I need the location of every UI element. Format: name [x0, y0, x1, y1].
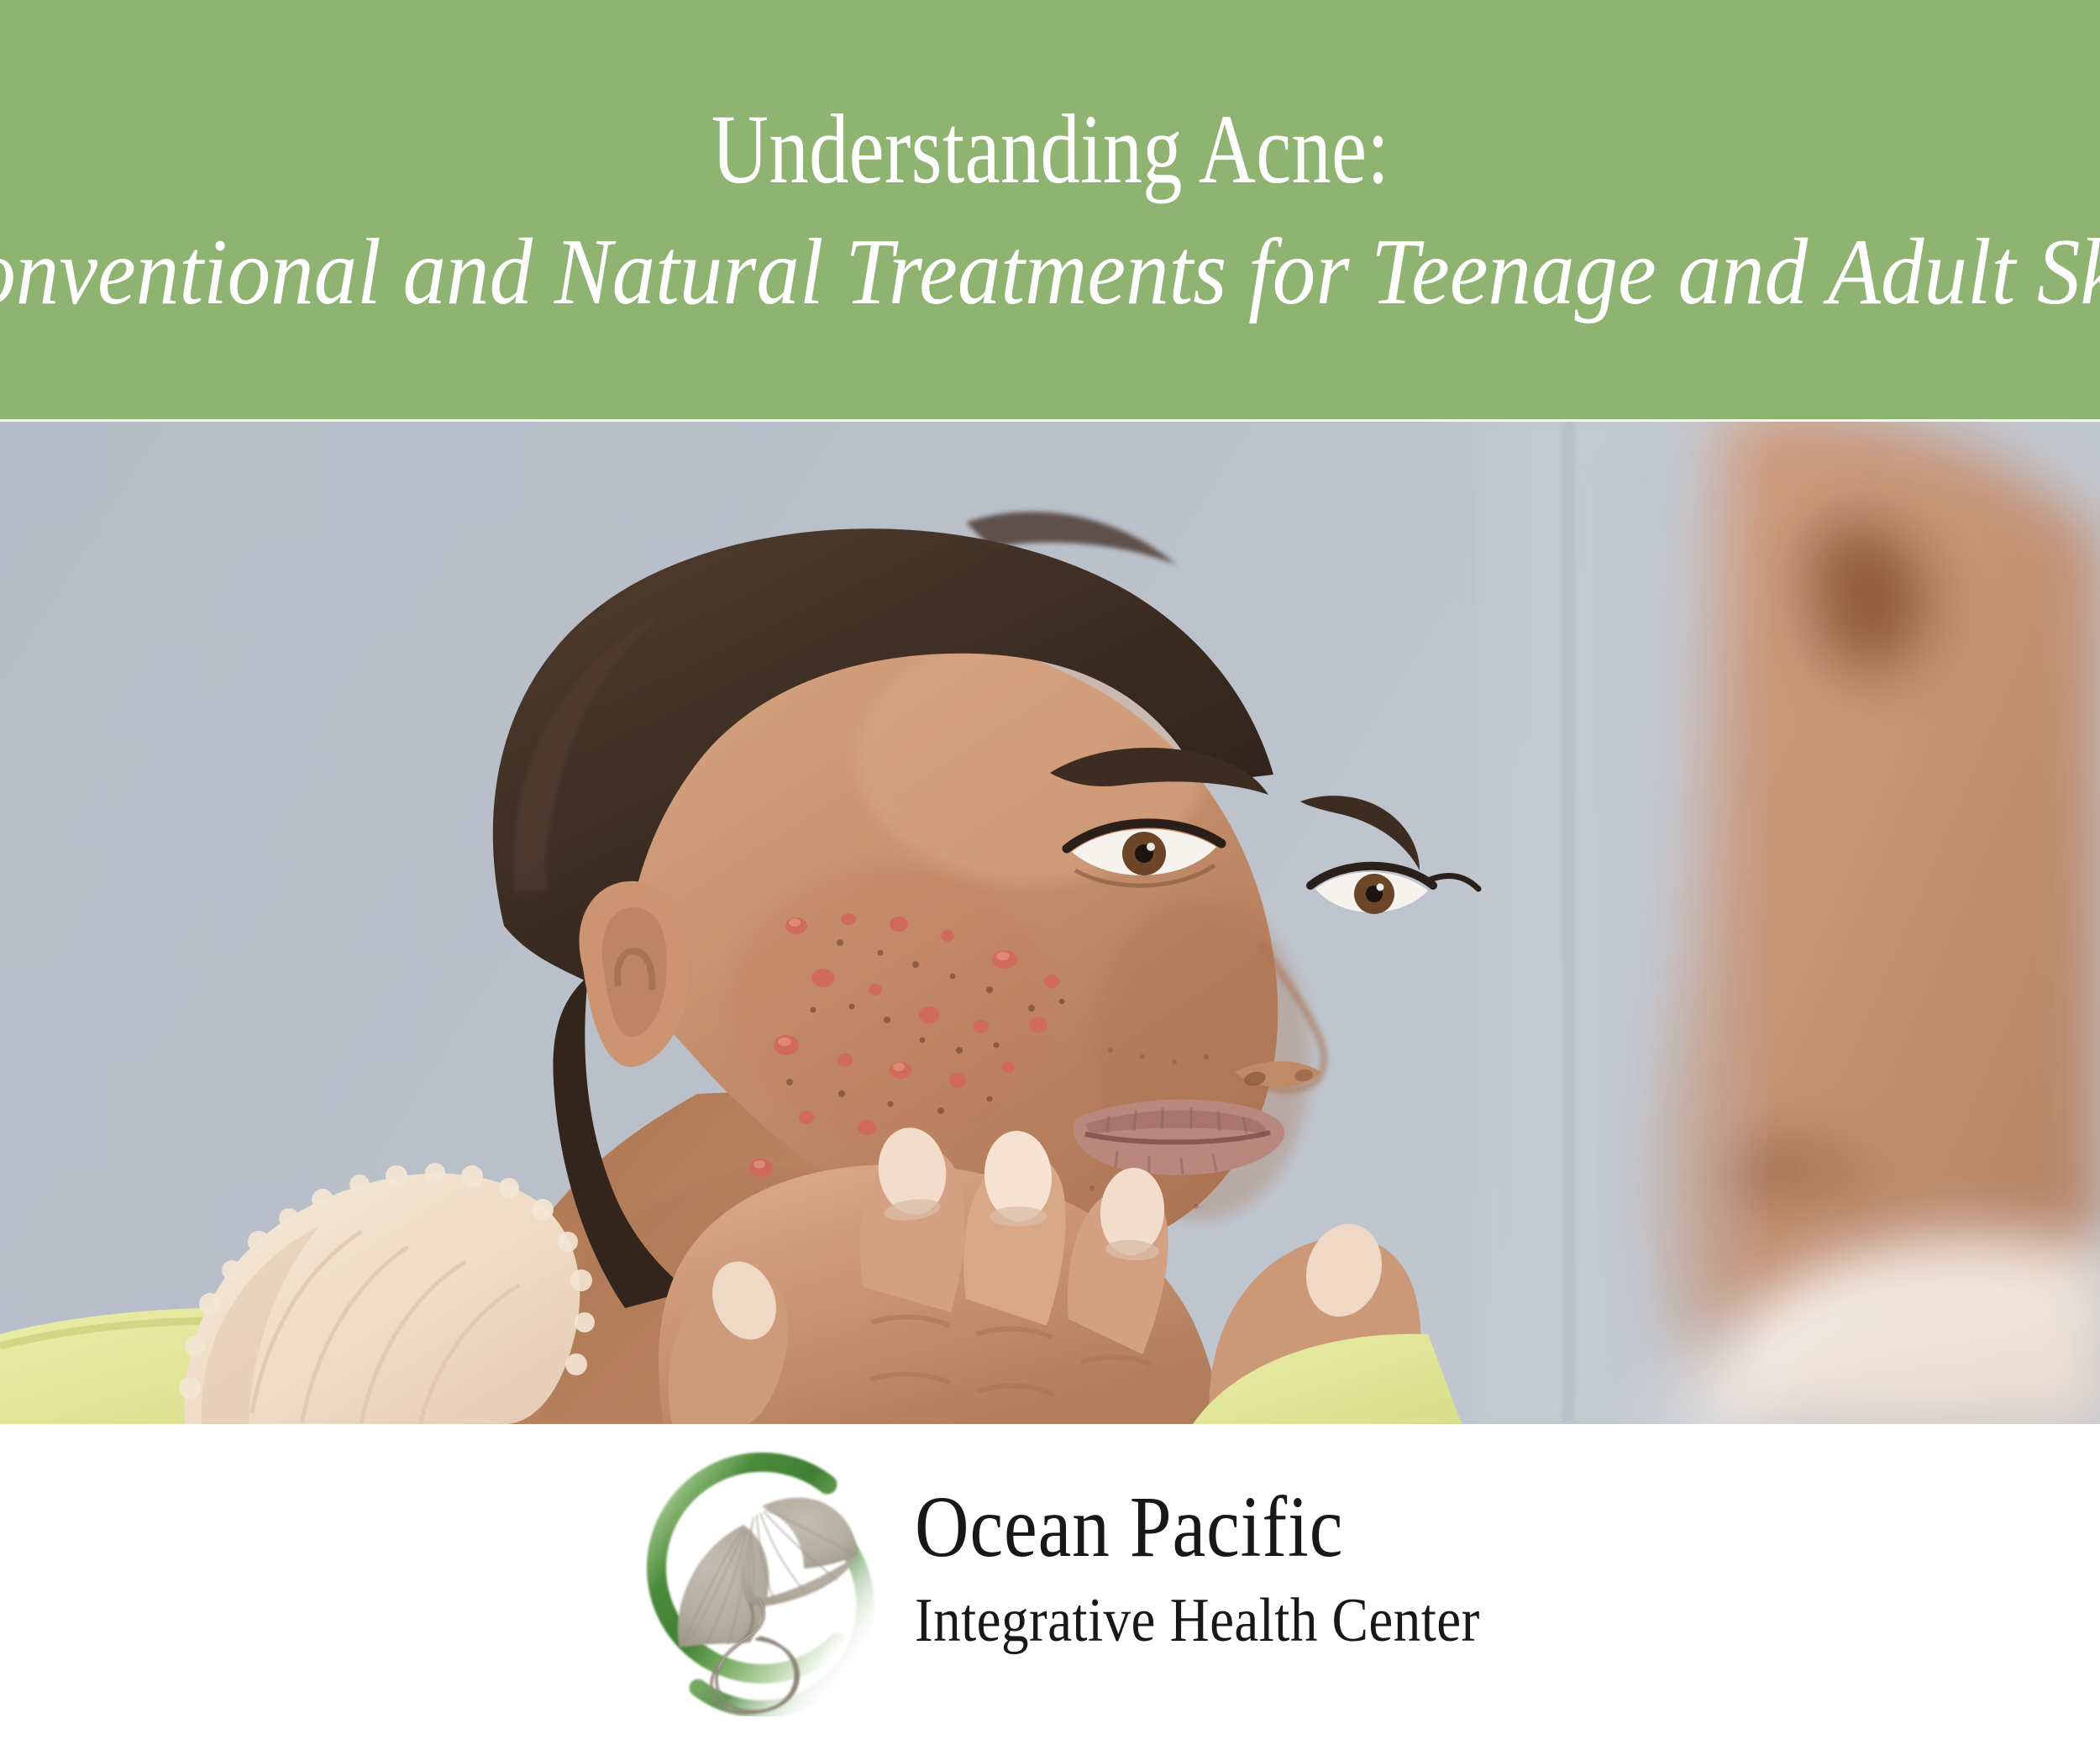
- brand-text: Ocean Pacific Integrative Health Center: [915, 1484, 1557, 1680]
- page-subtitle: Conventional and Natural Treatments for …: [0, 223, 2100, 323]
- brand-lockup[interactable]: Ocean Pacific Integrative Health Center: [617, 1448, 1557, 1716]
- brand-name: Ocean Pacific: [915, 1484, 1467, 1571]
- poster-canvas: Understanding Acne: Conventional and Nat…: [0, 0, 2100, 1750]
- ginkgo-leaf-circle-logo-icon: [617, 1448, 886, 1716]
- brand-tagline: Integrative Health Center: [915, 1590, 1480, 1652]
- footer-logo-area: Ocean Pacific Integrative Health Center: [0, 1424, 2100, 1750]
- header-band: Understanding Acne: Conventional and Nat…: [0, 0, 2100, 421]
- ginkgo-logo-svg: [617, 1448, 886, 1716]
- page-title: Understanding Acne:: [711, 99, 1389, 200]
- hero-photo-illustration: [0, 422, 2100, 1424]
- hero-photo: [0, 422, 2100, 1424]
